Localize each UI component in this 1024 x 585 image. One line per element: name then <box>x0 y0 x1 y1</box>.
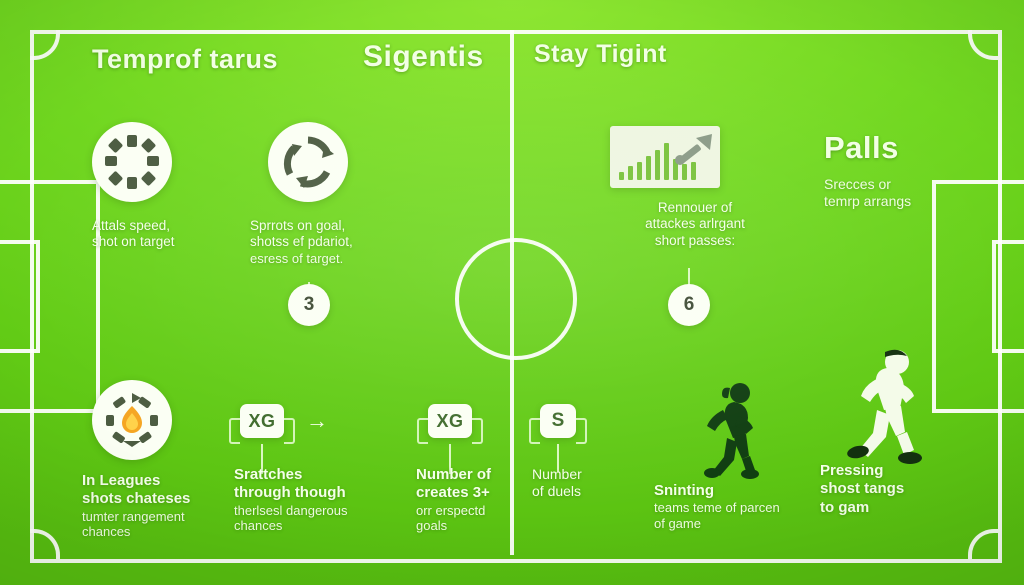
node-duels-caption: Number of duels <box>532 466 642 500</box>
node-rennouer-attacks[interactable]: Rennouer of attackes arlrgant short pass… <box>610 126 720 188</box>
bar-chart-growth-icon <box>610 126 720 188</box>
growth-arrow-icon <box>670 134 712 173</box>
node-sprrots-on-goal[interactable]: Sprrots on goal, shotss ef pdariot, esre… <box>268 122 348 202</box>
corner-arc-top-right <box>968 30 998 60</box>
caption-line-1: Sprrots on goal, <box>250 218 400 234</box>
node-number-of-creates[interactable]: XG Number of creates 3+ orr erspectd goa… <box>428 404 472 438</box>
running-player-light-icon <box>825 340 935 475</box>
caption-line-1: Attals speed, <box>92 218 232 234</box>
caption-line-2: of duels <box>532 483 642 500</box>
counter-badge-left: 3 <box>288 284 330 326</box>
xg-badge-icon: XG <box>428 404 472 438</box>
feature-subtitle: Srecces or temrp arrangs <box>824 176 911 210</box>
node-in-leagues-caption: In Leagues shots chateses tumter rangeme… <box>82 472 242 540</box>
node-attals-speed-caption: Attals speed, shot on target <box>92 218 232 251</box>
caption-line-1: In Leagues <box>82 472 242 490</box>
bracket-left-icon <box>417 418 428 444</box>
feature-title: Palls <box>824 130 911 166</box>
right-penalty-area <box>932 180 1024 413</box>
corner-arc-top-left <box>30 30 60 60</box>
flame-cycle-icon <box>92 380 172 460</box>
caption-sub: teams teme of parcen of game <box>654 500 794 532</box>
bracket-left-icon <box>529 418 540 444</box>
node-creates-caption: Number of creates 3+ orr erspectd goals <box>416 466 546 534</box>
s-badge-icon: S <box>540 404 576 438</box>
left-goal-area <box>0 240 40 353</box>
running-player-dark-icon <box>690 380 770 489</box>
xg-badge-icon: XG <box>240 404 284 438</box>
caption-line-2: shot on target <box>92 234 232 250</box>
feature-subtitle-line2: temrp arrangs <box>824 193 911 210</box>
node-attals-speed[interactable]: Attals speed, shot on target <box>92 122 172 202</box>
circular-arrows-icon <box>268 122 348 202</box>
caption-line-2: shotss ef pdariot, <box>250 234 400 250</box>
caption-sub: tumter rangement chances <box>82 509 202 541</box>
caption-line-2: shots chateses <box>82 490 242 508</box>
right-goal-area <box>992 240 1024 353</box>
caption-line-3: to gam <box>820 499 970 517</box>
caption-line-2: shost tangs <box>820 480 970 498</box>
heading-stay-tigint: Stay Tigint <box>534 40 667 69</box>
xg-label: XG <box>436 411 463 432</box>
bracket-right-icon <box>576 418 587 444</box>
xg-label: XG <box>248 411 275 432</box>
caption-sub: orr erspectd goals <box>416 503 516 535</box>
node-srattches-caption: Srattches through though therlsesl dange… <box>234 466 404 534</box>
node-rennouer-caption: Rennouer of attackes arlrgant short pass… <box>620 200 770 249</box>
caption-line-1: Sninting <box>654 482 824 500</box>
caption-sub: therlsesl dangerous chances <box>234 503 374 535</box>
caption-line-2: attackes arlrgant <box>620 216 770 232</box>
heading-temprof-tarus: Temprof tarus <box>92 44 278 75</box>
node-in-leagues[interactable]: In Leagues shots chateses tumter rangeme… <box>92 380 172 460</box>
caption-line-2: through though <box>234 484 404 502</box>
caption-line-3: short passes: <box>620 233 770 249</box>
feature-block-palls: Palls Srecces or temrp arrangs <box>824 130 911 210</box>
caption-line-1: Number of <box>416 466 546 484</box>
caption-line-1: Rennouer of <box>620 200 770 216</box>
centre-circle <box>455 238 577 360</box>
segmented-donut-icon <box>92 122 172 202</box>
node-sninting[interactable]: Sninting teams teme of parcen of game <box>690 380 770 489</box>
node-number-of-duels[interactable]: S Number of duels <box>540 404 576 438</box>
bracket-left-icon <box>229 418 240 444</box>
corner-arc-bottom-right <box>968 529 998 559</box>
s-label: S <box>552 410 565 432</box>
node-pressing-caption: Pressing shost tangs to gam <box>820 462 970 517</box>
corner-arc-bottom-left <box>30 529 60 559</box>
left-penalty-area <box>0 180 100 413</box>
bracket-right-icon <box>472 418 483 444</box>
caption-line-1: Number <box>532 466 642 483</box>
caption-line-2: creates 3+ <box>416 484 546 502</box>
infographic-canvas: Temprof tarus Sigentis Stay Tigint Palls… <box>0 0 1024 585</box>
feature-subtitle-line1: Srecces or <box>824 176 911 193</box>
bracket-right-icon <box>284 418 295 444</box>
caption-line-1: Srattches <box>234 466 404 484</box>
caption-line-3: esress of target. <box>250 251 400 267</box>
node-srattches[interactable]: XG → Srattches through though therlsesl … <box>240 404 328 438</box>
node-sninting-caption: Sninting teams teme of parcen of game <box>654 482 824 532</box>
arrow-right-icon: → <box>306 410 328 432</box>
heading-sigentis: Sigentis <box>363 40 484 74</box>
counter-badge-right: 6 <box>668 284 710 326</box>
caption-line-1: Pressing <box>820 462 970 480</box>
node-sprrots-caption: Sprrots on goal, shotss ef pdariot, esre… <box>250 218 400 267</box>
